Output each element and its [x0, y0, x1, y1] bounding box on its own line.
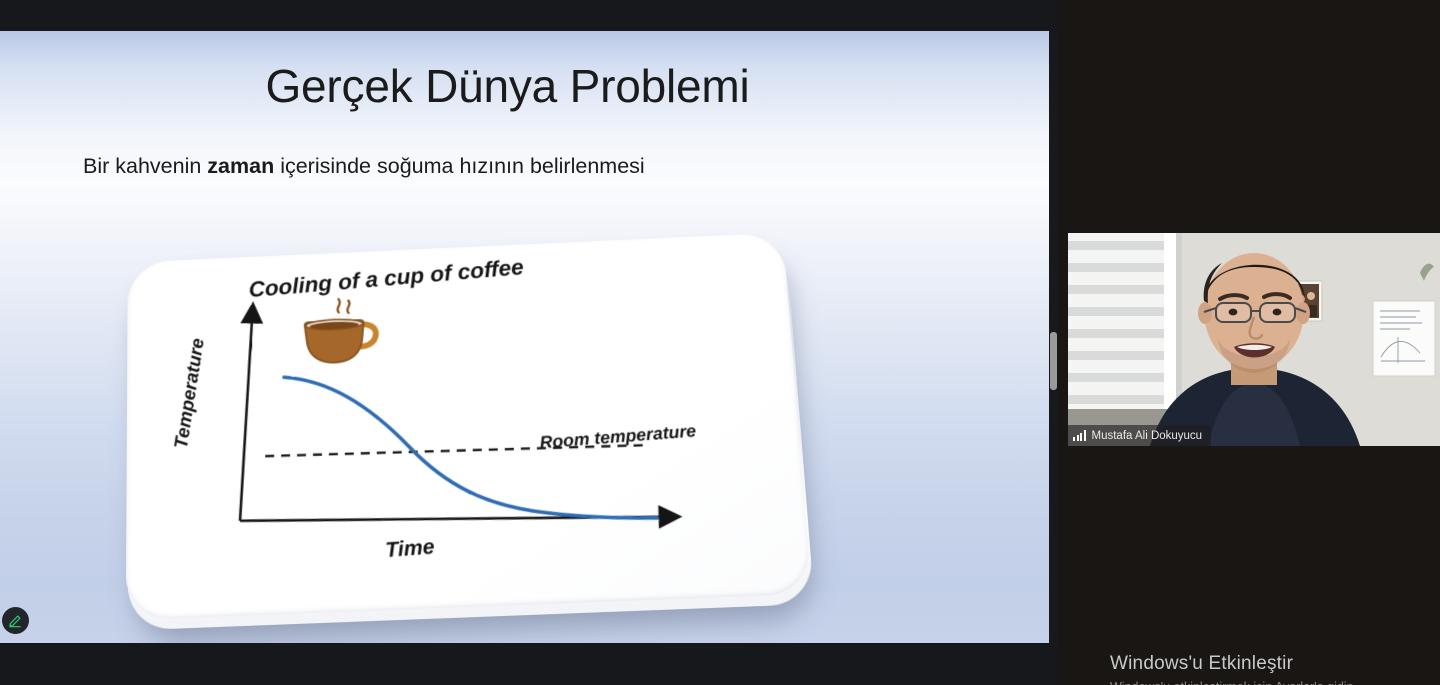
- whiteboard-note: [1373, 301, 1435, 376]
- participant-video-tile[interactable]: Mustafa Ali Dokuyucu: [1068, 233, 1440, 446]
- participant-name-plate: Mustafa Ali Dokuyucu: [1068, 425, 1211, 446]
- windows-activation-watermark: Windows'u Etkinleştir Windows'u etkinleş…: [1110, 653, 1440, 685]
- slide-subtitle: Bir kahvenin zaman içerisinde soğuma hız…: [83, 154, 645, 179]
- chart-card: Cooling of a cup of coffee: [120, 236, 810, 626]
- slide-subtitle-suffix: içerisinde soğuma hızının belirlenmesi: [274, 154, 644, 178]
- slide-title: Gerçek Dünya Problemi: [0, 59, 1015, 113]
- pencil-icon: [8, 613, 23, 628]
- x-axis-label: Time: [385, 535, 436, 563]
- chart-card-3d: Cooling of a cup of coffee: [122, 228, 828, 641]
- chart-card-face: Cooling of a cup of coffee: [126, 232, 812, 620]
- meeting-window: Gerçek Dünya Problemi Bir kahvenin zaman…: [0, 0, 1440, 685]
- x-axis: [240, 504, 661, 534]
- activation-subtitle: Windows'u etkinleştirmek için Ayarlar'a …: [1110, 680, 1440, 685]
- room-temperature-line: [265, 440, 649, 461]
- y-axis: [238, 321, 254, 521]
- room-temperature-label: Room temperature: [539, 421, 697, 454]
- slide-scrollbar-thumb[interactable]: [1050, 332, 1057, 390]
- presentation-slide[interactable]: Gerçek Dünya Problemi Bir kahvenin zaman…: [0, 31, 1058, 643]
- webcam-feed: [1068, 233, 1440, 446]
- participant-rail: Mustafa Ali Dokuyucu: [1058, 0, 1440, 685]
- shared-screen-region: Gerçek Dünya Problemi Bir kahvenin zaman…: [0, 0, 1058, 685]
- participant-name: Mustafa Ali Dokuyucu: [1092, 430, 1203, 442]
- slide-subtitle-emphasis: zaman: [207, 154, 274, 178]
- slide-subtitle-prefix: Bir kahvenin: [83, 154, 207, 178]
- coffee-cup-icon: [293, 291, 389, 372]
- annotate-button[interactable]: [2, 607, 29, 634]
- activation-title: Windows'u Etkinleştir: [1110, 653, 1440, 675]
- signal-bars-icon: [1073, 430, 1086, 441]
- cooling-curve-chart: [126, 232, 812, 620]
